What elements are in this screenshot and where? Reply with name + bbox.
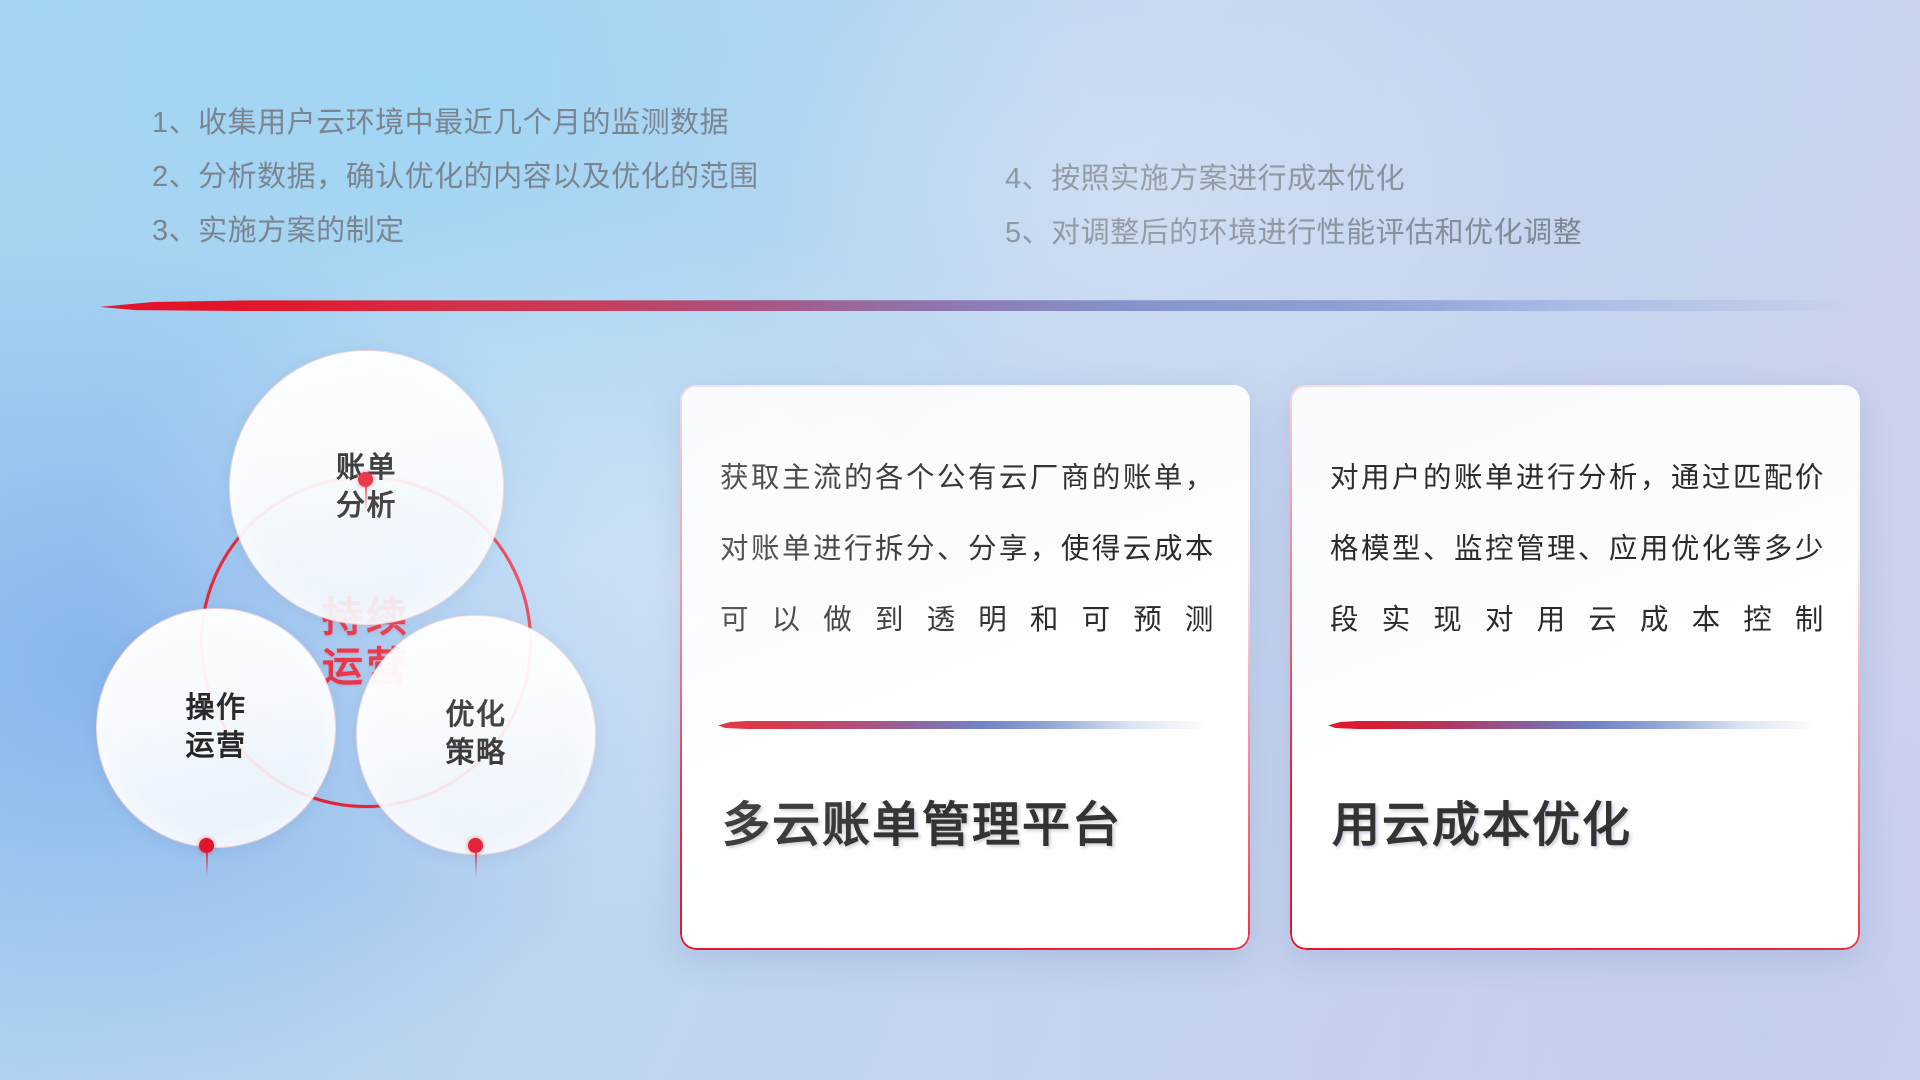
- venn-bubble-optimization-strategy-line-2: 策略: [445, 735, 506, 773]
- section-divider: [100, 300, 1860, 314]
- info-card-1-title: 多云账单管理平台: [722, 785, 1220, 855]
- venn-bubble-optimization-strategy[interactable]: 优化 策略: [356, 615, 596, 855]
- info-card-2-rule: [1328, 721, 1818, 729]
- bullet-list-left: 1、收集用户云环境中最近几个月的监测数据 2、分析数据，确认优化的内容以及优化的…: [152, 96, 759, 258]
- venn-node-dot-top: [358, 472, 373, 487]
- venn-node-dot-right: [468, 838, 483, 853]
- venn-bubble-operations[interactable]: 操作 运营: [96, 608, 336, 848]
- bullet-item-3: 3、实施方案的制定: [152, 204, 759, 258]
- slide-canvas: 1、收集用户云环境中最近几个月的监测数据 2、分析数据，确认优化的内容以及优化的…: [0, 0, 1920, 1080]
- info-card-1-body: 获取主流的各个公有云厂商的账单，对账单进行拆分、分享，使得云成本可以做到透明和可…: [720, 443, 1214, 656]
- venn-bubble-operations-line-2: 运营: [185, 728, 246, 766]
- venn-bubble-optimization-strategy-line-1: 优化: [445, 697, 506, 735]
- bullet-item-1: 1、收集用户云环境中最近几个月的监测数据: [152, 96, 759, 150]
- info-card-1-rule: [718, 721, 1208, 729]
- bullet-item-5: 5、对调整后的环境进行性能评估和优化调整: [1005, 206, 1582, 260]
- venn-bubble-operations-line-1: 操作: [185, 690, 246, 728]
- venn-bubble-billing-analysis[interactable]: 账单 分析: [229, 350, 504, 625]
- venn-diagram: 持续 运营 账单 分析 操作 运营 优化 策略: [96, 350, 636, 940]
- venn-node-dot-left: [199, 838, 214, 853]
- bullet-item-4: 4、按照实施方案进行成本优化: [1005, 152, 1582, 206]
- info-card-2-body: 对用户的账单进行分析，通过匹配价格模型、监控管理、应用优化等多少段实现对用云成本…: [1330, 443, 1824, 656]
- bullet-item-2: 2、分析数据，确认优化的内容以及优化的范围: [152, 150, 759, 204]
- info-card-2-title: 用云成本优化: [1332, 785, 1830, 855]
- info-card-multi-cloud-billing-platform[interactable]: 获取主流的各个公有云厂商的账单，对账单进行拆分、分享，使得云成本可以做到透明和可…: [680, 385, 1250, 950]
- bullet-list-right: 4、按照实施方案进行成本优化 5、对调整后的环境进行性能评估和优化调整: [1005, 152, 1582, 260]
- info-card-cloud-cost-optimization[interactable]: 对用户的账单进行分析，通过匹配价格模型、监控管理、应用优化等多少段实现对用云成本…: [1290, 385, 1860, 950]
- divider-line: [100, 300, 1860, 311]
